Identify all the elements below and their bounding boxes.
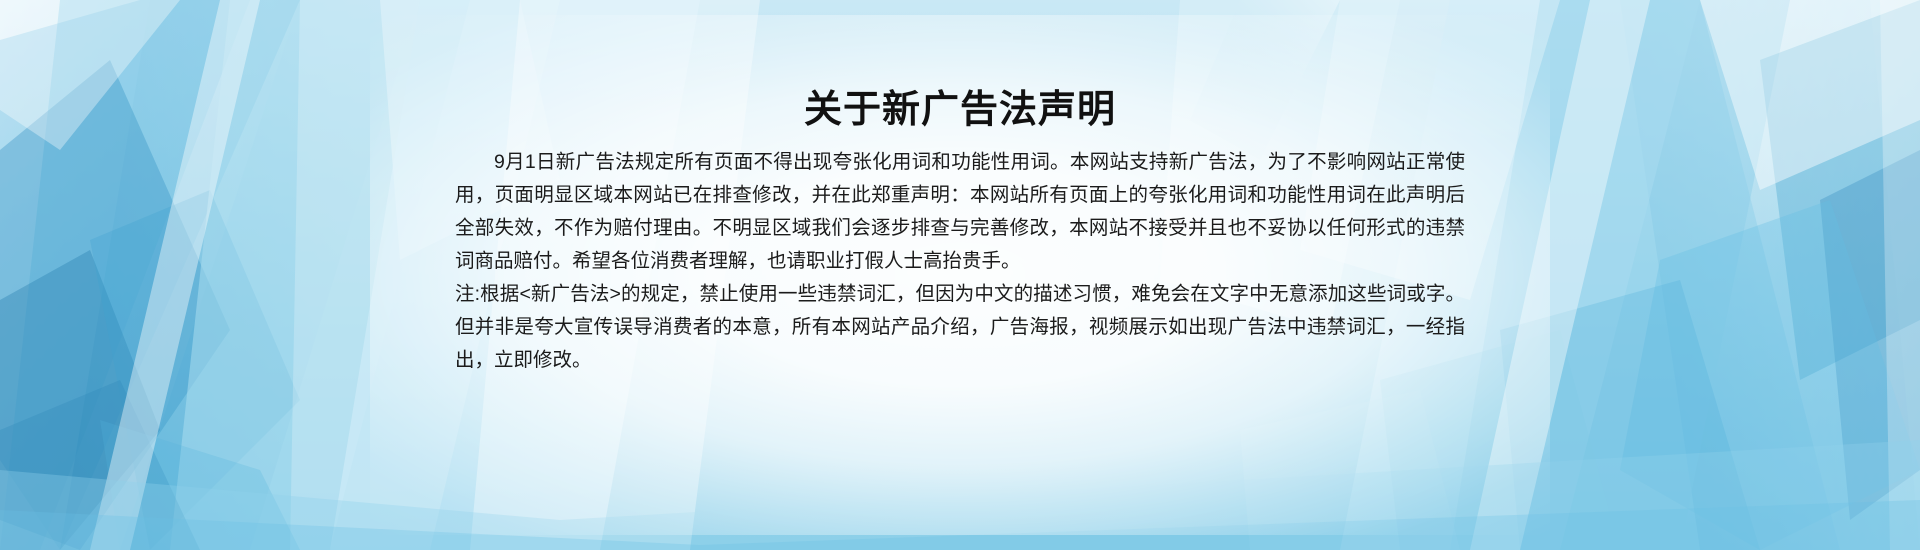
statement-body: 9月1日新广告法规定所有页面不得出现夸张化用词和功能性用词。本网站支持新广告法，… (455, 146, 1465, 377)
page-title: 关于新广告法声明 (455, 88, 1465, 134)
advertising-law-statement-banner: 关于新广告法声明 9月1日新广告法规定所有页面不得出现夸张化用词和功能性用词。本… (0, 0, 1920, 550)
statement-paragraph: 9月1日新广告法规定所有页面不得出现夸张化用词和功能性用词。本网站支持新广告法，… (455, 146, 1465, 278)
statement-note-paragraph: 注:根据<新广告法>的规定，禁止使用一些违禁词汇，但因为中文的描述习惯，难免会在… (455, 278, 1465, 377)
statement-content: 关于新广告法声明 9月1日新广告法规定所有页面不得出现夸张化用词和功能性用词。本… (455, 0, 1465, 550)
